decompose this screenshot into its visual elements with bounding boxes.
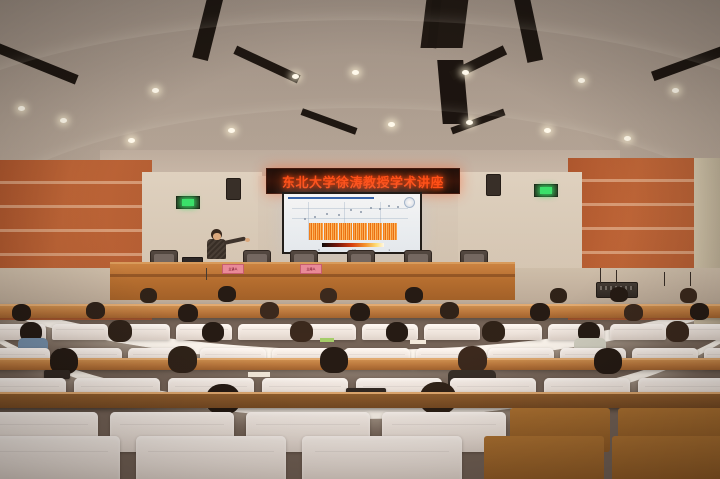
- row-desk-front: [0, 392, 720, 408]
- audience-head: [260, 302, 279, 319]
- name-placard: 主持人: [300, 264, 322, 274]
- audience-head: [12, 304, 31, 321]
- desk-notebook: [320, 338, 334, 342]
- wall-speaker-right: [486, 174, 501, 196]
- seat-cover: [302, 436, 462, 479]
- audience-head: [594, 348, 622, 374]
- audience-head: [108, 320, 132, 342]
- slide-data-point: [379, 208, 381, 210]
- heatmap-panel: [383, 223, 397, 240]
- presenter-hand: [245, 238, 250, 242]
- projection-screen: 0 0.5 1: [282, 192, 422, 254]
- audience-head: [86, 302, 105, 319]
- seat-cover: [0, 436, 120, 479]
- slide-data-point: [338, 214, 340, 216]
- audience-head: [202, 322, 224, 342]
- exit-sign-left: [176, 196, 200, 209]
- led-banner: 东北大学徐涛教授学术讲座: [266, 168, 460, 194]
- slide-heatmap: [309, 223, 397, 240]
- audience-head: [386, 322, 408, 342]
- audience-head: [168, 346, 197, 373]
- name-placard-label: 主持人: [301, 265, 321, 273]
- audience-head: [482, 321, 505, 342]
- head-table-edge: [110, 274, 515, 277]
- audience-row: [0, 430, 720, 479]
- name-placard-label: 主讲人: [223, 265, 243, 273]
- audience-head: [440, 302, 459, 319]
- slide-header-bar: [288, 197, 374, 199]
- presenter-face: [213, 233, 221, 240]
- lecture-hall-photo: 东北大学徐涛教授学术讲座: [0, 0, 720, 479]
- heatmap-panel: [368, 223, 382, 240]
- slide-data-point: [304, 218, 306, 220]
- desk-paper: [248, 372, 270, 377]
- heatmap-panel: [339, 223, 353, 240]
- microphone-stand: [600, 268, 601, 284]
- exit-sign-right: [534, 184, 558, 197]
- audience-head: [290, 321, 313, 342]
- slide-colorbar: [322, 243, 384, 247]
- colorbar-tick-max: 1: [388, 248, 390, 252]
- audience-head: [690, 303, 709, 320]
- audience-head: [320, 347, 348, 373]
- seat-wood-back: [612, 436, 720, 479]
- heatmap-panel: [324, 223, 338, 240]
- audience-head: [624, 304, 643, 321]
- slide-gridline: [292, 218, 408, 219]
- slide-data-point: [360, 211, 362, 213]
- microphone-stand: [690, 272, 691, 286]
- led-banner-text: 东北大学徐涛教授学术讲座: [282, 172, 444, 191]
- name-placard: 主讲人: [222, 264, 244, 274]
- audience-head: [530, 303, 550, 321]
- slide-data-point: [326, 213, 328, 215]
- heatmap-panel: [309, 223, 323, 240]
- colorbar-tick-min: 0: [318, 248, 320, 252]
- slide-data-point: [314, 216, 316, 218]
- slide-data-point: [350, 209, 352, 211]
- slide-logo-icon: [404, 197, 415, 208]
- microphone-stand: [664, 272, 665, 286]
- presentation-slide: 0 0.5 1: [284, 194, 420, 252]
- seat-cover: [136, 436, 286, 479]
- slide-data-point: [370, 207, 372, 209]
- presenter: [204, 229, 230, 263]
- microphone-stand: [616, 270, 617, 284]
- wall-speaker-left: [226, 178, 241, 200]
- audience-head: [458, 346, 487, 373]
- audience-head: [350, 303, 370, 321]
- audience-head: [666, 321, 689, 342]
- desk-paper: [410, 340, 426, 344]
- audience-head: [178, 304, 198, 322]
- slide-data-point: [388, 205, 390, 207]
- podium-microphone: [206, 268, 207, 280]
- seat-wood-back: [484, 436, 604, 479]
- heatmap-panel: [353, 223, 367, 240]
- slide-data-point: [397, 206, 399, 208]
